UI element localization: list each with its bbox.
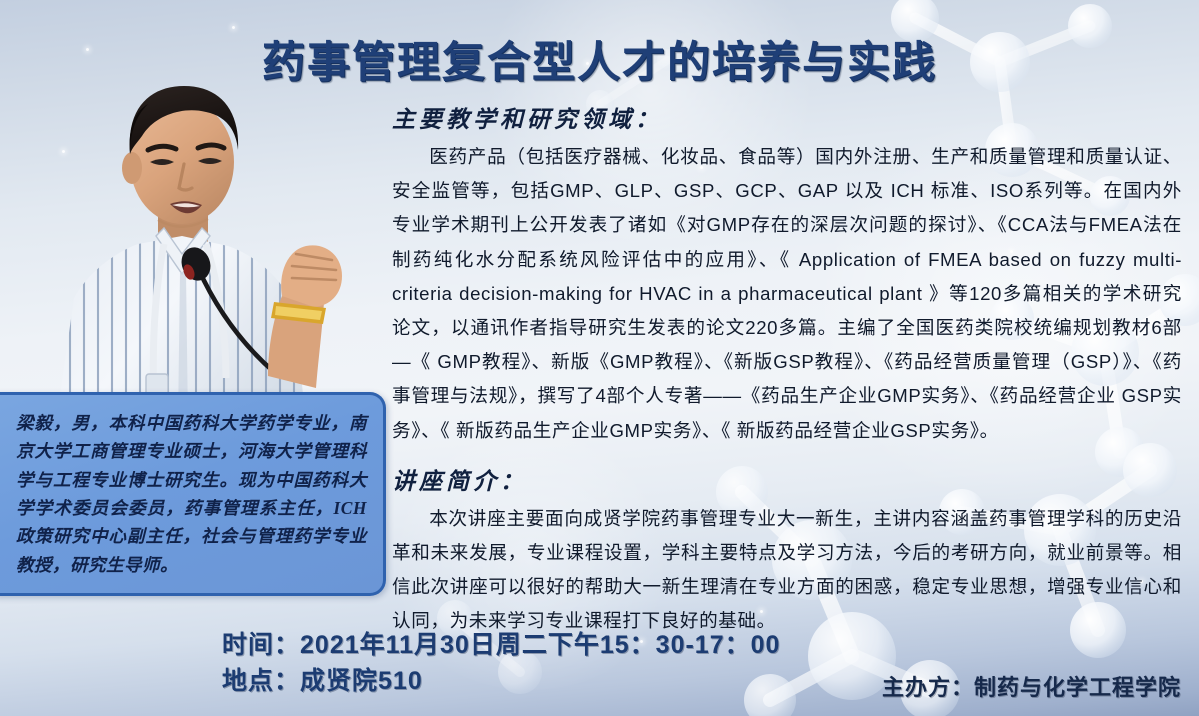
content-column: 主要教学和研究领域： 医药产品（包括医疗器械、化妆品、食品等）国内外注册、生产和… — [392, 100, 1182, 639]
event-time-value: 2021年11月30日周二下午15：30-17：00 — [300, 631, 780, 659]
event-location-value: 成贤院510 — [300, 667, 423, 695]
section-heading-lecture: 讲座简介： — [392, 462, 1182, 496]
speaker-bio-box: 梁毅，男，本科中国药科大学药学专业，南京大学工商管理专业硕士，河海大学管理科学与… — [0, 392, 386, 596]
speaker-portrait-icon — [30, 58, 360, 423]
event-time-line: 时间：2021年11月30日周二下午15：30-17：00 — [222, 628, 780, 664]
organizer-line: 主办方：制药与化学工程学院 — [882, 670, 1181, 702]
event-time-label: 时间： — [222, 631, 300, 659]
section-heading-research: 主要教学和研究领域： — [392, 100, 1182, 134]
poster-canvas: 药事管理复合型人才的培养与实践 — [0, 0, 1199, 716]
event-location-line: 地点：成贤院510 — [222, 664, 780, 700]
event-details: 时间：2021年11月30日周二下午15：30-17：00 地点：成贤院510 — [222, 628, 780, 699]
section-body-research: 医药产品（包括医疗器械、化妆品、食品等）国内外注册、生产和质量管理和质量认证、安… — [392, 140, 1182, 448]
speaker-photo — [30, 58, 360, 423]
speaker-bio-text: 梁毅，男，本科中国药科大学药学专业，南京大学工商管理专业硕士，河海大学管理科学与… — [16, 409, 367, 579]
event-location-label: 地点： — [222, 667, 300, 695]
section-body-lecture: 本次讲座主要面向成贤学院药事管理专业大一新生，主讲内容涵盖药事管理学科的历史沿革… — [392, 502, 1182, 639]
